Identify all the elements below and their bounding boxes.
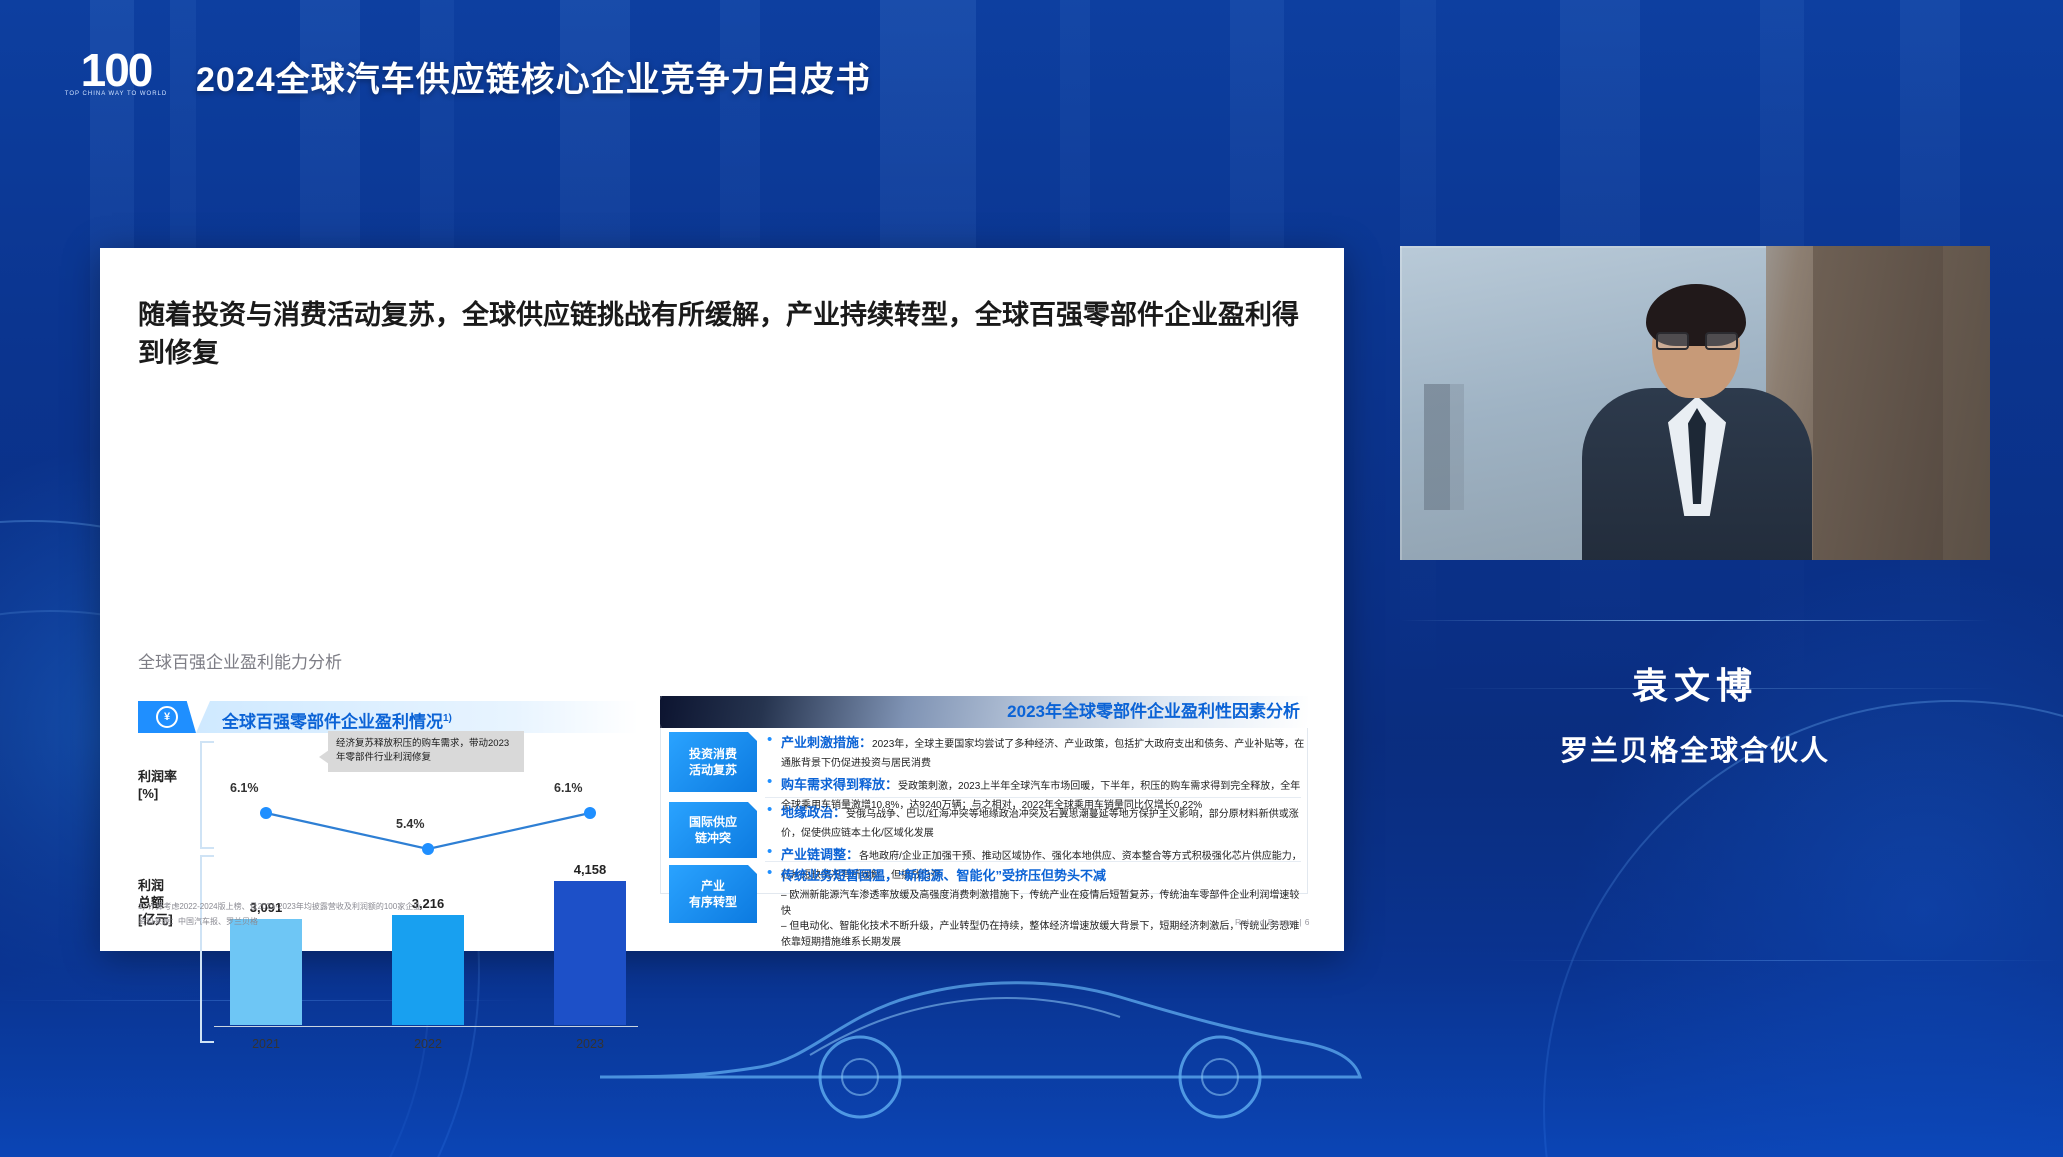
bar-value-2023: 4,158 <box>554 862 626 877</box>
chart-callout: 经济复苏释放积压的购车需求，带动2023年零部件行业利润修复 <box>328 731 524 772</box>
slide-subtitle: 全球百强企业盈利能力分析 <box>138 648 342 673</box>
logo-tagline: TOP CHINA WAY TO WORLD <box>65 91 167 97</box>
axis-bracket-total <box>200 855 214 1043</box>
factors-panel-body: 投资消费 活动复苏 产业刺激措施：2023年，全球主要国家均尝试了多种经济、产业… <box>660 728 1308 894</box>
profit-icon: ¥ <box>138 701 196 733</box>
factor-content-investment: 产业刺激措施：2023年，全球主要国家均尝试了多种经济、产业政策，包括扩大政府支… <box>757 732 1307 792</box>
bar-rect-2022 <box>392 915 464 1025</box>
speaker-role: 罗兰贝格全球合伙人 <box>1400 729 1990 769</box>
page-title: 2024全球汽车供应链核心企业竞争力白皮书 <box>196 52 871 101</box>
footnote-source: 资料来源：中国汽车报、罗兰贝格 <box>138 914 1138 929</box>
bullet-text: 受俄乌战争、巴以/红海冲突等地缘政治冲突及右翼思潮蔓延等地方保护主义影响，部分原… <box>781 809 1299 839</box>
video-door <box>1813 246 1943 560</box>
factor-bullet: 传统业务短暂回温，“新能源、智能化”受挤压但势头不减 <box>767 865 1307 885</box>
bullet-head: 传统业务短暂回温，“新能源、智能化”受挤压但势头不减 <box>781 868 1106 883</box>
presentation-slide: 随着投资与消费活动复苏，全球供应链挑战有所缓解，产业持续转型，全球百强零部件企业… <box>100 248 1344 951</box>
factors-header-image <box>660 696 960 728</box>
x-tick-2023: 2023 <box>554 1037 626 1051</box>
factor-content-supply-chain: 地缘政治：受俄乌战争、巴以/红海冲突等地缘政治冲突及右翼思潮蔓延等地方保护主义影… <box>757 802 1307 858</box>
line-point-label-2021: 6.1% <box>230 781 259 795</box>
bar-2023: 4,158 <box>554 862 626 1025</box>
speaker-name: 袁文博 <box>1400 657 1990 709</box>
factor-row-investment: 投资消费 活动复苏 产业刺激措施：2023年，全球主要国家均尝试了多种经济、产业… <box>661 732 1307 792</box>
axis-label-rate-unit: [%] <box>138 786 200 803</box>
logo-digits: 100 <box>81 51 152 89</box>
factor-divider <box>765 797 1301 798</box>
factor-bullet: 产业刺激措施：2023年，全球主要国家均尝试了多种经济、产业政策，包括扩大政府支… <box>767 732 1307 771</box>
factors-panel: 2023年全球零部件企业盈利性因素分析 投资消费 活动复苏 产业刺激措施：202… <box>660 696 1308 894</box>
chart-x-axis <box>214 1026 638 1028</box>
factor-tag-investment: 投资消费 活动复苏 <box>669 732 757 792</box>
bar-rect-2021 <box>230 919 302 1025</box>
bullet-head: 地缘政治： <box>781 805 846 820</box>
chart-header-footnote-mark: 1) <box>443 713 452 724</box>
factors-panel-header: 2023年全球零部件企业盈利性因素分析 <box>660 696 1308 728</box>
bullet-head: 产业刺激措施： <box>781 735 872 750</box>
speaker-divider <box>1400 620 1990 621</box>
x-tick-2021: 2021 <box>230 1037 302 1051</box>
bullet-head: 购车需求得到释放： <box>781 777 898 792</box>
slide-headline: 随着投资与消费活动复苏，全球供应链挑战有所缓解，产业持续转型，全球百强零部件企业… <box>138 296 1308 373</box>
chart-header: ¥ 全球百强零部件企业盈利情况1) <box>138 703 638 733</box>
factor-divider <box>765 861 1301 862</box>
axis-bracket-rate <box>200 741 214 849</box>
chart-header-title: 全球百强零部件企业盈利情况1) <box>222 705 452 733</box>
chart-header-text: 全球百强零部件企业盈利情况 <box>222 713 443 732</box>
factor-tag-supply-chain: 国际供应 链冲突 <box>669 802 757 858</box>
slide-page-footer: Roland Berger | 6 <box>1235 917 1310 927</box>
bullet-head: 产业链调整： <box>781 847 859 862</box>
line-point-label-2023: 6.1% <box>554 781 583 795</box>
factors-panel-title: 2023年全球零部件企业盈利性因素分析 <box>1007 696 1300 728</box>
footnote-1: 1) 计算考虑2022-2024版上榜、且2021-2023年均披露营收及利润额… <box>138 899 1138 914</box>
axis-label-profit-rate: 利润率 [%] <box>138 769 200 803</box>
factor-row-supply-chain: 国际供应 链冲突 地缘政治：受俄乌战争、巴以/红海冲突等地缘政治冲突及右翼思潮蔓… <box>661 802 1307 858</box>
slide-footnotes: 1) 计算考虑2022-2024版上榜、且2021-2023年均披露营收及利润额… <box>138 899 1138 929</box>
page-header: 100 TOP CHINA WAY TO WORLD 2024全球汽车供应链核心… <box>0 0 2063 150</box>
profit-total-bars: 3,091 3,216 4,158 <box>224 835 638 1025</box>
glasses-icon <box>1656 332 1738 350</box>
speaker-info: 袁文博 罗兰贝格全球合伙人 <box>1400 620 1990 769</box>
axis-label-rate-text: 利润率 <box>138 769 200 786</box>
factor-bullet: 地缘政治：受俄乌战争、巴以/红海冲突等地缘政治冲突及右翼思潮蔓延等地方保护主义影… <box>767 802 1307 841</box>
speaker-video-tile[interactable] <box>1400 246 1990 560</box>
brand-logo-100: 100 TOP CHINA WAY TO WORLD <box>60 48 172 100</box>
x-tick-2022: 2022 <box>392 1037 464 1051</box>
chart-panel: ¥ 全球百强零部件企业盈利情况1) 利润率 [%] 利润 总额 [亿元] 经济复… <box>138 703 638 895</box>
